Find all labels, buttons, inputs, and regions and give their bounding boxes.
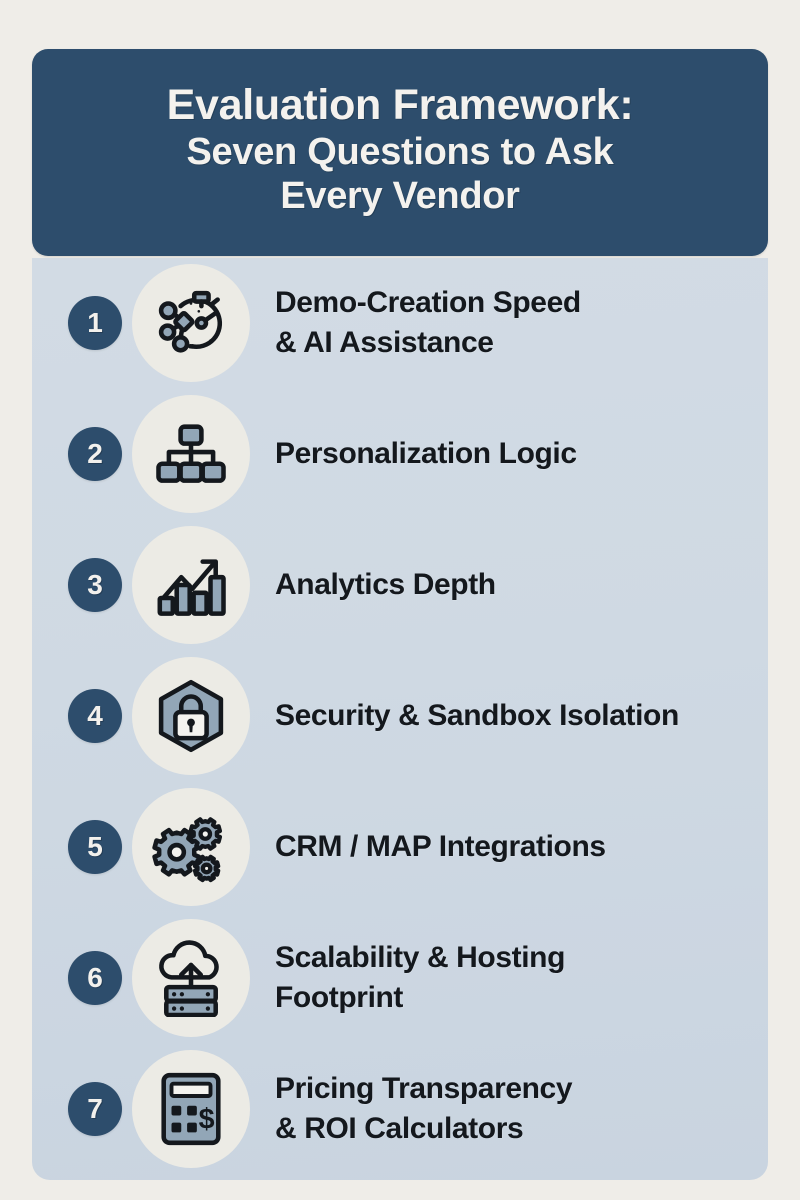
item-label-line-1: Analytics Depth [275,565,765,605]
list-item[interactable]: 7 $ Pricing Transparency & ROI Calculato… [32,1050,768,1168]
header-title-line-1: Evaluation Framework: [167,83,634,128]
item-label-line-1: Personalization Logic [275,434,765,474]
item-label: Pricing Transparency & ROI Calculators [275,1069,765,1149]
header-title-line-3: Every Vendor [280,177,519,217]
list-item[interactable]: 3 Analytics Depth [32,526,768,644]
list-item[interactable]: 4 Security & Sandbox Isolation [32,657,768,775]
item-label: Demo-Creation Speed & AI Assistance [275,283,765,363]
item-label-line-2: & AI Assistance [275,323,765,363]
item-label-line-2: Footprint [275,978,765,1018]
item-label-line-1: Scalability & Hosting [275,938,765,978]
item-number-badge: 1 [68,296,122,350]
infographic-poster: Evaluation Framework: Seven Questions to… [0,0,800,1200]
cloud-server-upload-icon [132,919,250,1037]
hexagon-lock-icon [132,657,250,775]
item-label-line-2: & ROI Calculators [275,1109,765,1149]
item-label: Personalization Logic [275,434,765,474]
header-title-line-2: Seven Questions to Ask [186,133,613,173]
hierarchy-tree-icon [132,395,250,513]
item-number-badge: 2 [68,427,122,481]
item-number-badge: 7 [68,1082,122,1136]
item-number-badge: 4 [68,689,122,743]
svg-text:$: $ [199,1104,215,1136]
item-label-line-1: CRM / MAP Integrations [275,827,765,867]
gears-icon [132,788,250,906]
list-item[interactable]: 6 Scalability & Hosting [32,919,768,1037]
item-label-line-1: Pricing Transparency [275,1069,765,1109]
calculator-dollar-icon: $ [132,1050,250,1168]
item-number-badge: 6 [68,951,122,1005]
item-label: Security & Sandbox Isolation [275,696,765,736]
item-number-badge: 5 [68,820,122,874]
item-label: Analytics Depth [275,565,765,605]
list-item[interactable]: 2 Personalization Logic [32,395,768,513]
header-card: Evaluation Framework: Seven Questions to… [32,49,768,256]
item-label: Scalability & Hosting Footprint [275,938,765,1018]
item-label: CRM / MAP Integrations [275,827,765,867]
list-item[interactable]: 5 CRM / M [32,788,768,906]
stopwatch-network-icon [132,264,250,382]
bar-chart-trend-icon [132,526,250,644]
list-item[interactable]: 1 [32,264,768,382]
item-label-line-1: Demo-Creation Speed [275,283,765,323]
item-label-line-1: Security & Sandbox Isolation [275,696,765,736]
items-panel: 1 [32,258,768,1180]
item-number-badge: 3 [68,558,122,612]
